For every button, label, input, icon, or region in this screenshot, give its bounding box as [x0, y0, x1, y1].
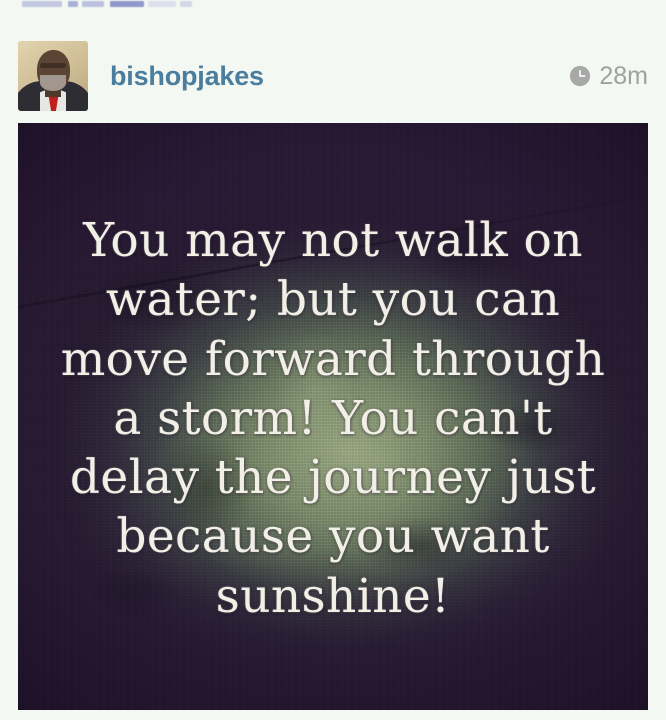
sliver-fragment [22, 1, 62, 7]
sliver-fragment [110, 1, 144, 7]
sliver-fragment [180, 1, 192, 7]
clock-icon [569, 65, 591, 87]
quote-line: delay the journey just [70, 448, 596, 507]
previous-post-sliver [22, 0, 192, 7]
avatar-beard [40, 75, 66, 91]
quote-line: a storm! You can't [113, 389, 552, 448]
quote-line: water; but you can [106, 270, 560, 329]
post-image[interactable]: You may not walk on water; but you can m… [18, 123, 648, 710]
post-header: bishopjakes 28m [0, 36, 666, 116]
sliver-fragment [82, 1, 104, 7]
quote-line: sunshine! [216, 567, 451, 626]
timestamp: 28m [569, 62, 648, 91]
quote-text: You may not walk on water; but you can m… [18, 123, 648, 710]
sliver-fragment [68, 1, 78, 7]
sliver-fragment [148, 1, 176, 7]
timestamp-label: 28m [599, 62, 648, 91]
username-link[interactable]: bishopjakes [110, 61, 264, 92]
quote-line: You may not walk on [83, 211, 583, 270]
quote-line: because you want [116, 507, 549, 566]
avatar-brow [40, 63, 66, 68]
avatar[interactable] [18, 41, 88, 111]
quote-line: move forward through [61, 330, 606, 389]
